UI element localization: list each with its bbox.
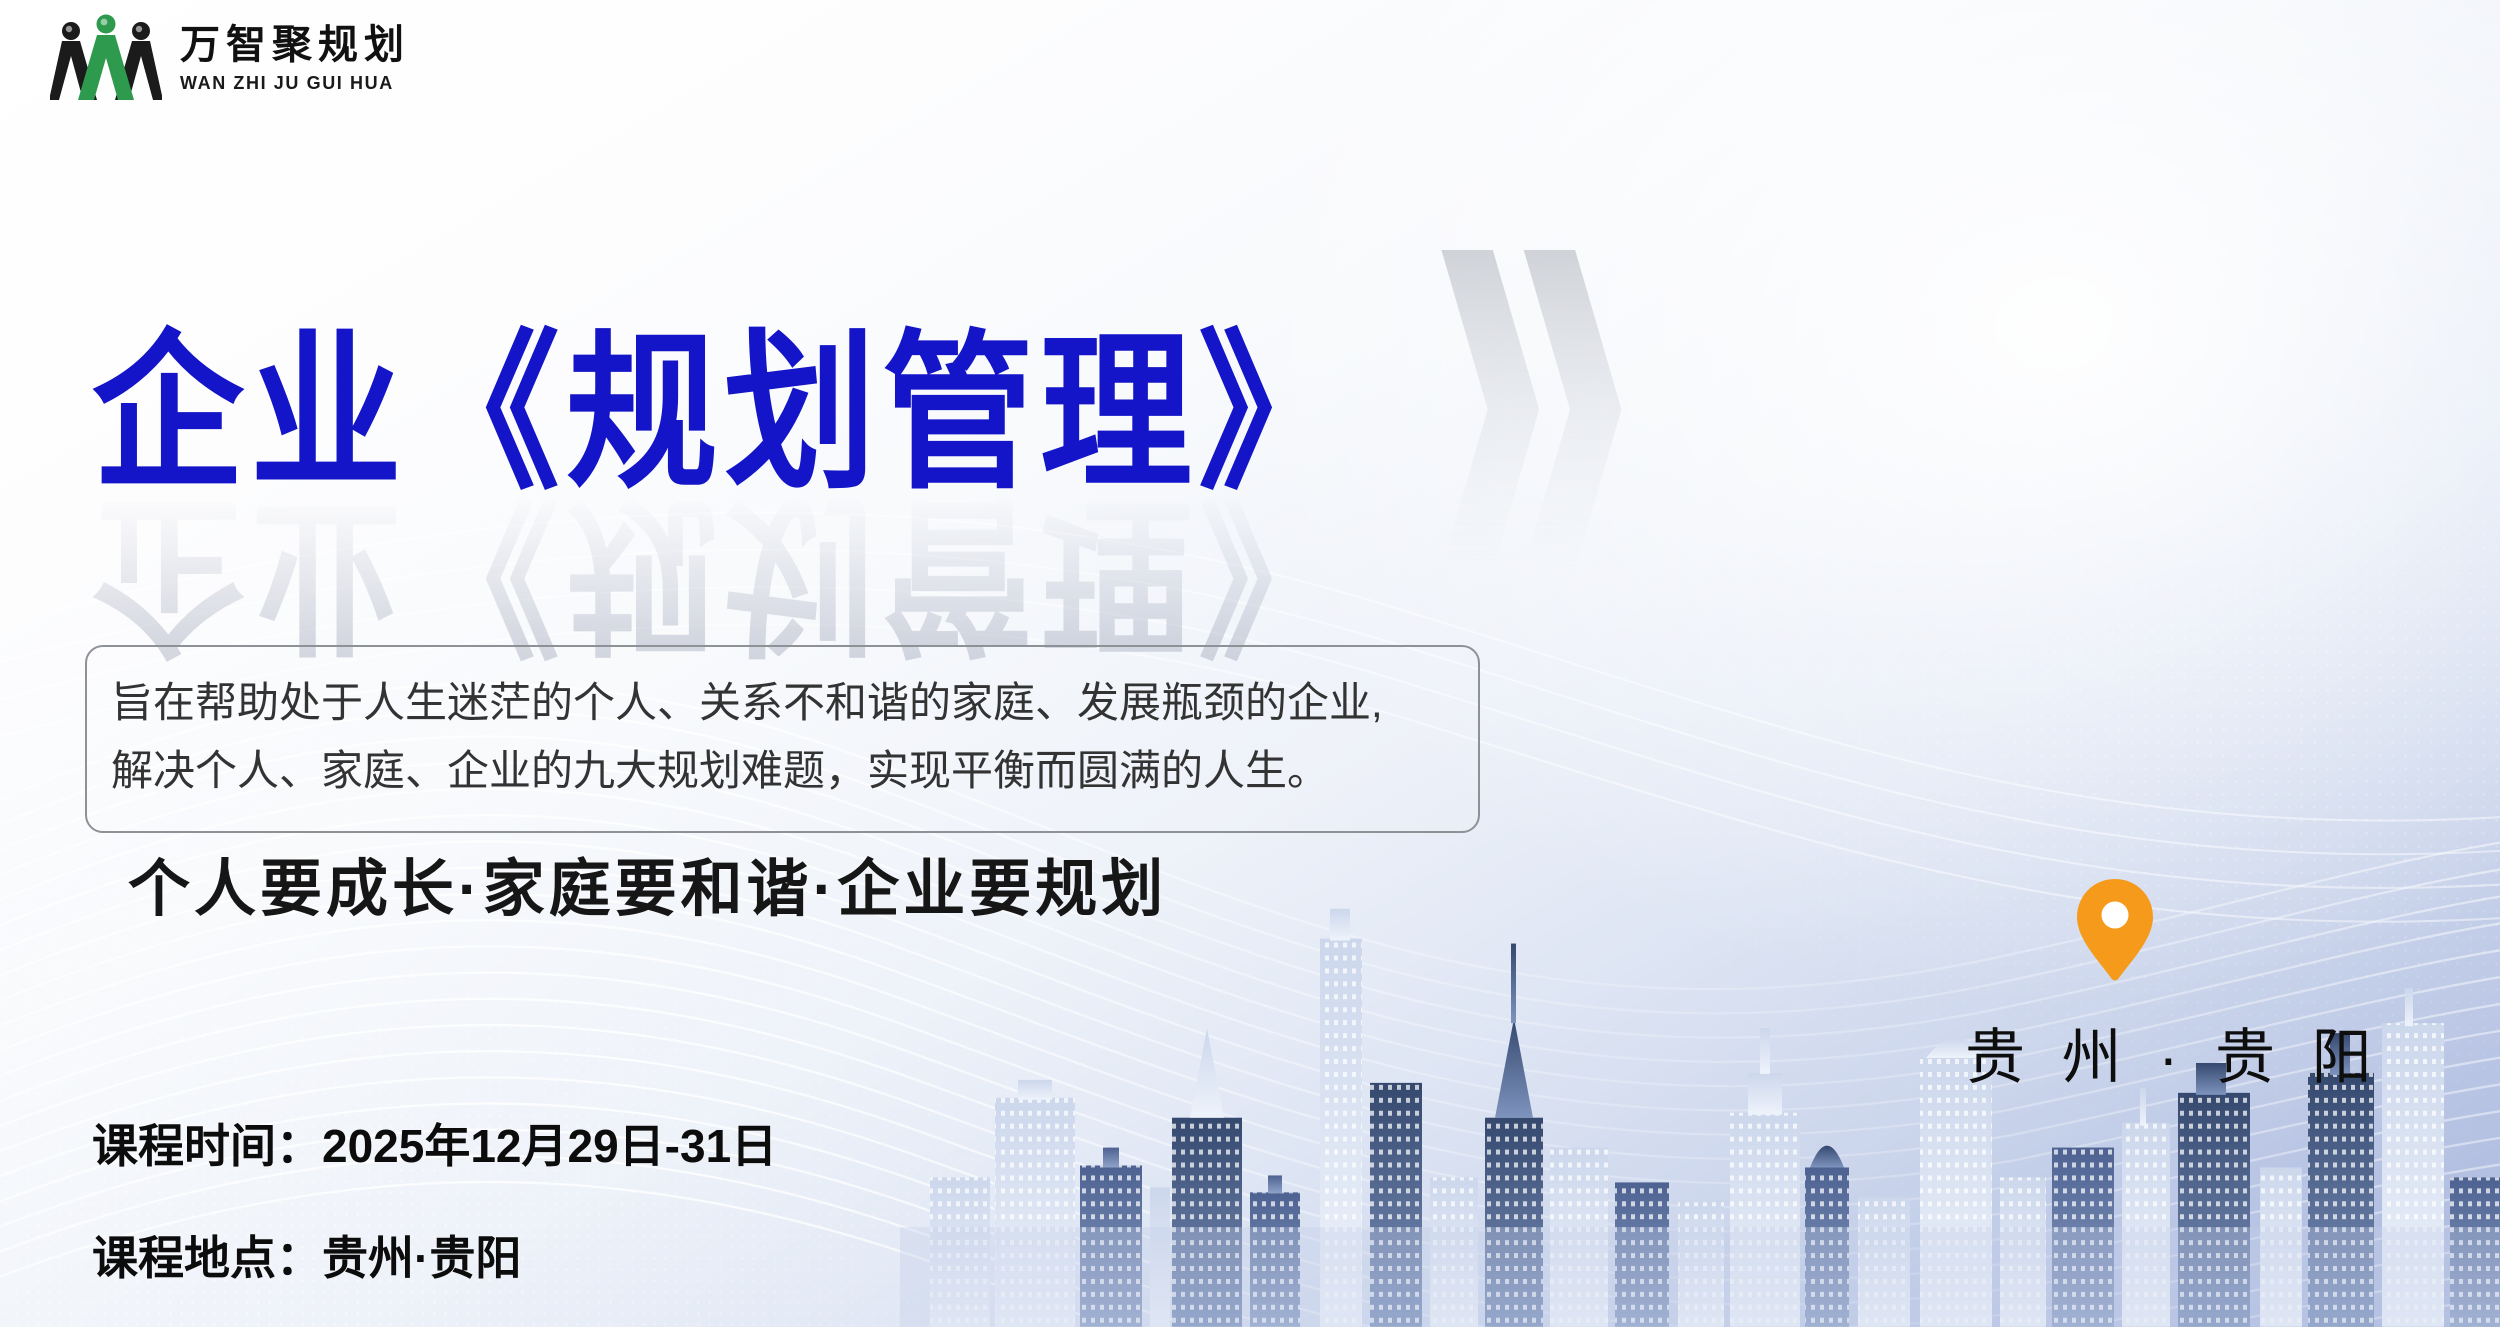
location-block: 贵 州 · 贵 阳 (1955, 875, 2275, 1096)
poster-canvas: 万智聚规划 WAN ZHI JU GUI HUA 企业《规划管理》 企业《规划管… (0, 0, 2500, 1327)
description-box: 旨在帮助处于人生迷茫的个人、关系不和谐的家庭、发展瓶颈的企业, 解决个人、家庭、… (85, 645, 1480, 833)
course-time: 课程时间：2025年12月29日-31日 (92, 1110, 777, 1176)
page-title-reflection: 企业《规划管理》 (92, 480, 1356, 664)
course-place: 课程地点：贵州·贵阳 (92, 1222, 777, 1288)
brand-name-en: WAN ZHI JU GUI HUA (180, 74, 410, 92)
slogan-text: 个人要成长·家庭要和谐·企业要规划 (128, 838, 1167, 928)
location-label: 贵 州 · 贵 阳 (1955, 1009, 2275, 1096)
three-people-group-icon (50, 14, 162, 102)
brand-text: 万智聚规划 WAN ZHI JU GUI HUA (180, 25, 410, 92)
description-line-1: 旨在帮助处于人生迷茫的个人、关系不和谐的家庭、发展瓶颈的企业, (111, 669, 1454, 737)
brand-logo[interactable]: 万智聚规划 WAN ZHI JU GUI HUA (50, 14, 410, 102)
course-info-block: 课程时间：2025年12月29日-31日 课程地点：贵州·贵阳 (92, 1110, 777, 1288)
chevron-watermark-icon (1400, 250, 1740, 610)
brand-name-cn: 万智聚规划 (180, 25, 410, 65)
map-pin-icon (2073, 875, 2157, 983)
page-title: 企业《规划管理》 (92, 322, 1356, 506)
description-line-2: 解决个人、家庭、企业的九大规划难题，实现平衡而圆满的人生。 (111, 737, 1454, 805)
